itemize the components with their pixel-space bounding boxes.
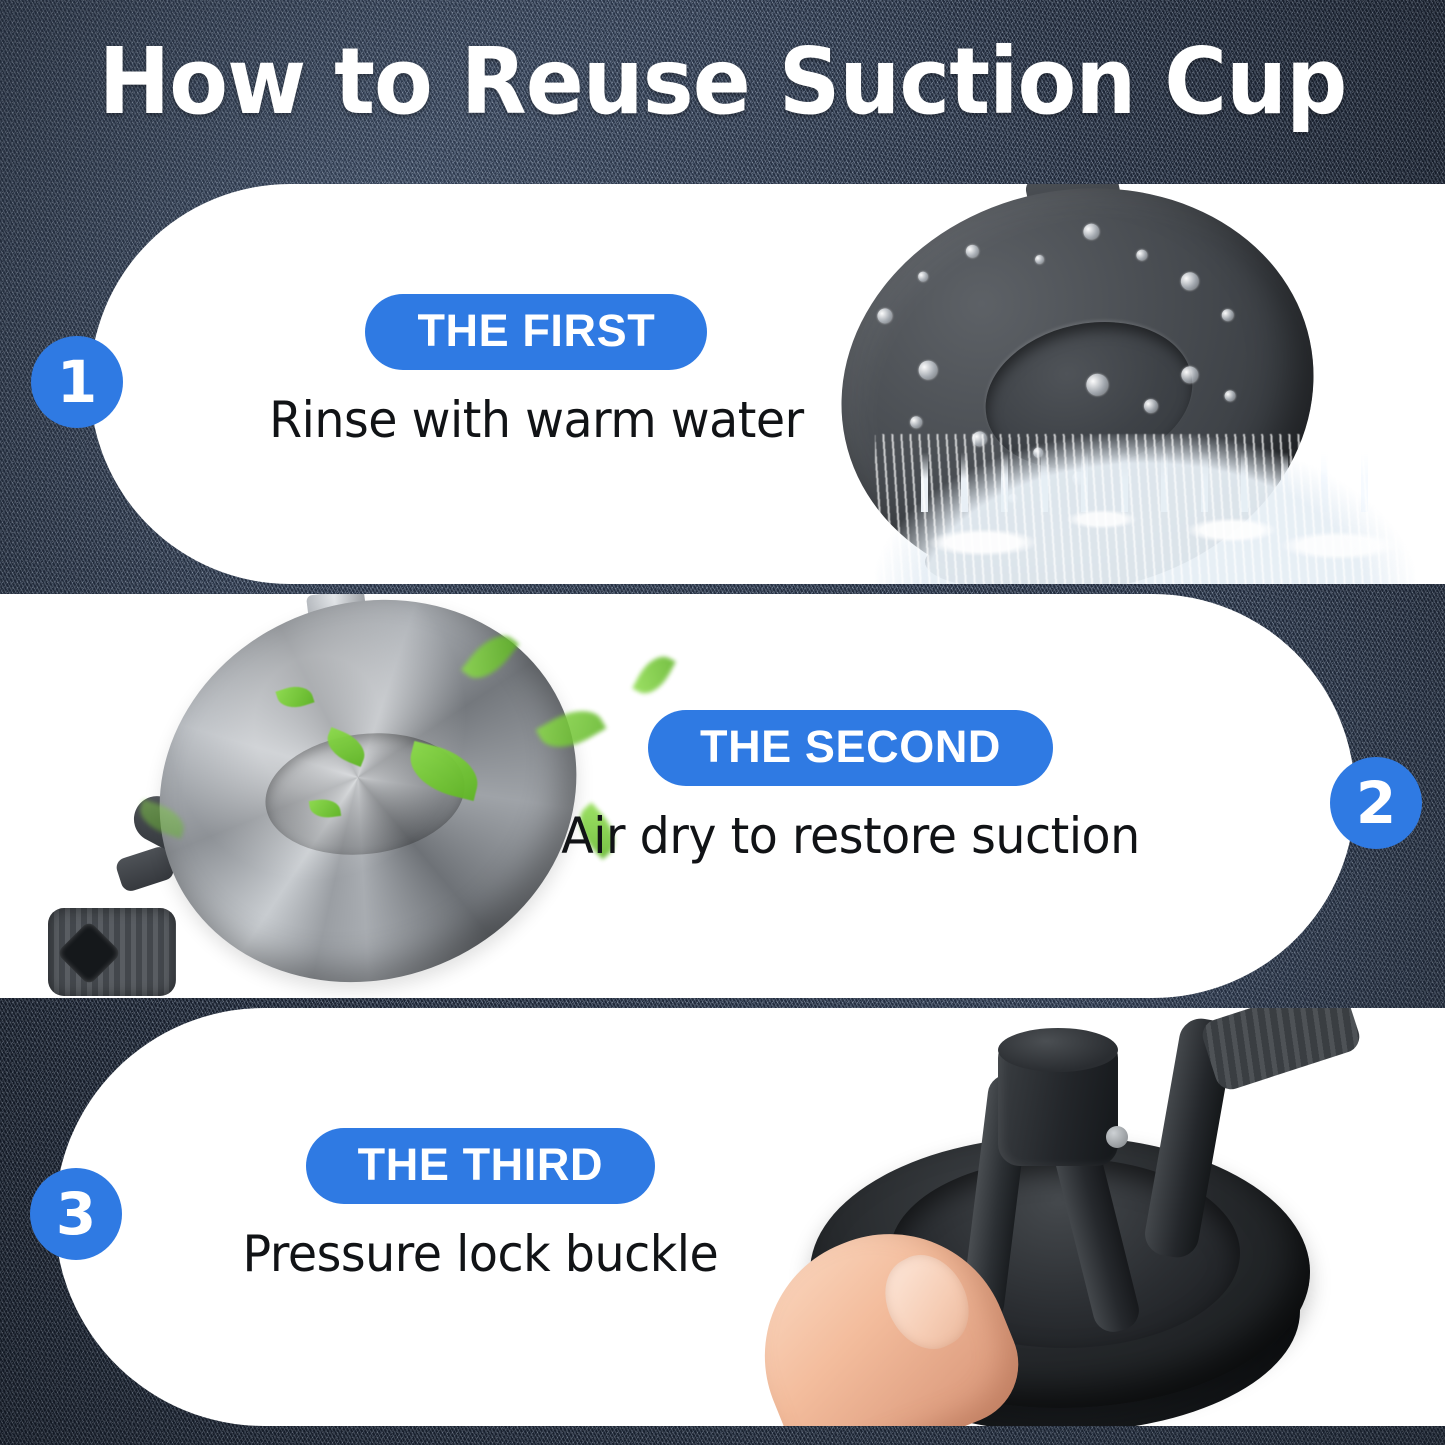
step-number-badge-1: 1	[31, 336, 123, 428]
center-hub-cap	[998, 1028, 1118, 1072]
step-2-text-block: THE SECOND Air dry to restore suction	[546, 710, 1155, 864]
adjustment-knob	[48, 908, 176, 996]
step-1-caption: Rinse with warm water	[269, 392, 804, 448]
step-3-pill-label[interactable]: THE THIRD	[306, 1128, 655, 1204]
water-splash	[875, 434, 1415, 584]
water-droplet	[916, 359, 939, 382]
step-2-caption: Air dry to restore suction	[561, 808, 1140, 864]
mount-arm-knurled-head	[1199, 1008, 1364, 1093]
water-droplet	[917, 271, 929, 283]
water-droplet	[1224, 389, 1237, 402]
water-droplet	[1135, 249, 1148, 262]
step-2-pill-label[interactable]: THE SECOND	[648, 710, 1053, 786]
pivot-screw	[1106, 1126, 1128, 1148]
water-droplet	[964, 244, 979, 259]
step-number-badge-3: 3	[30, 1168, 122, 1260]
step-panel-2: THE SECOND Air dry to restore suction	[0, 594, 1355, 998]
step-1-text-block: THE FIRST Rinse with warm water	[255, 294, 818, 448]
step-1-pill-label[interactable]: THE FIRST	[365, 294, 707, 370]
water-droplet	[1034, 254, 1045, 265]
step-3-illustration	[770, 1008, 1410, 1426]
step-panel-3: THE THIRD Pressure lock buckle	[55, 1008, 1445, 1426]
water-droplet	[1081, 222, 1100, 241]
water-droplet	[876, 307, 894, 325]
water-droplet	[1179, 271, 1200, 292]
step-panel-1: THE FIRST Rinse with warm water	[90, 184, 1445, 584]
water-droplet	[1221, 308, 1235, 322]
leaf-icon	[632, 649, 676, 700]
knob-socket	[56, 920, 121, 985]
step-number-badge-2: 2	[1330, 757, 1422, 849]
step-3-caption: Pressure lock buckle	[243, 1226, 719, 1282]
page-title: How to Reuse Suction Cup	[51, 36, 1395, 128]
water-droplet	[909, 415, 923, 429]
step-3-text-block: THE THIRD Pressure lock buckle	[230, 1128, 731, 1282]
step-1-illustration	[785, 184, 1425, 584]
